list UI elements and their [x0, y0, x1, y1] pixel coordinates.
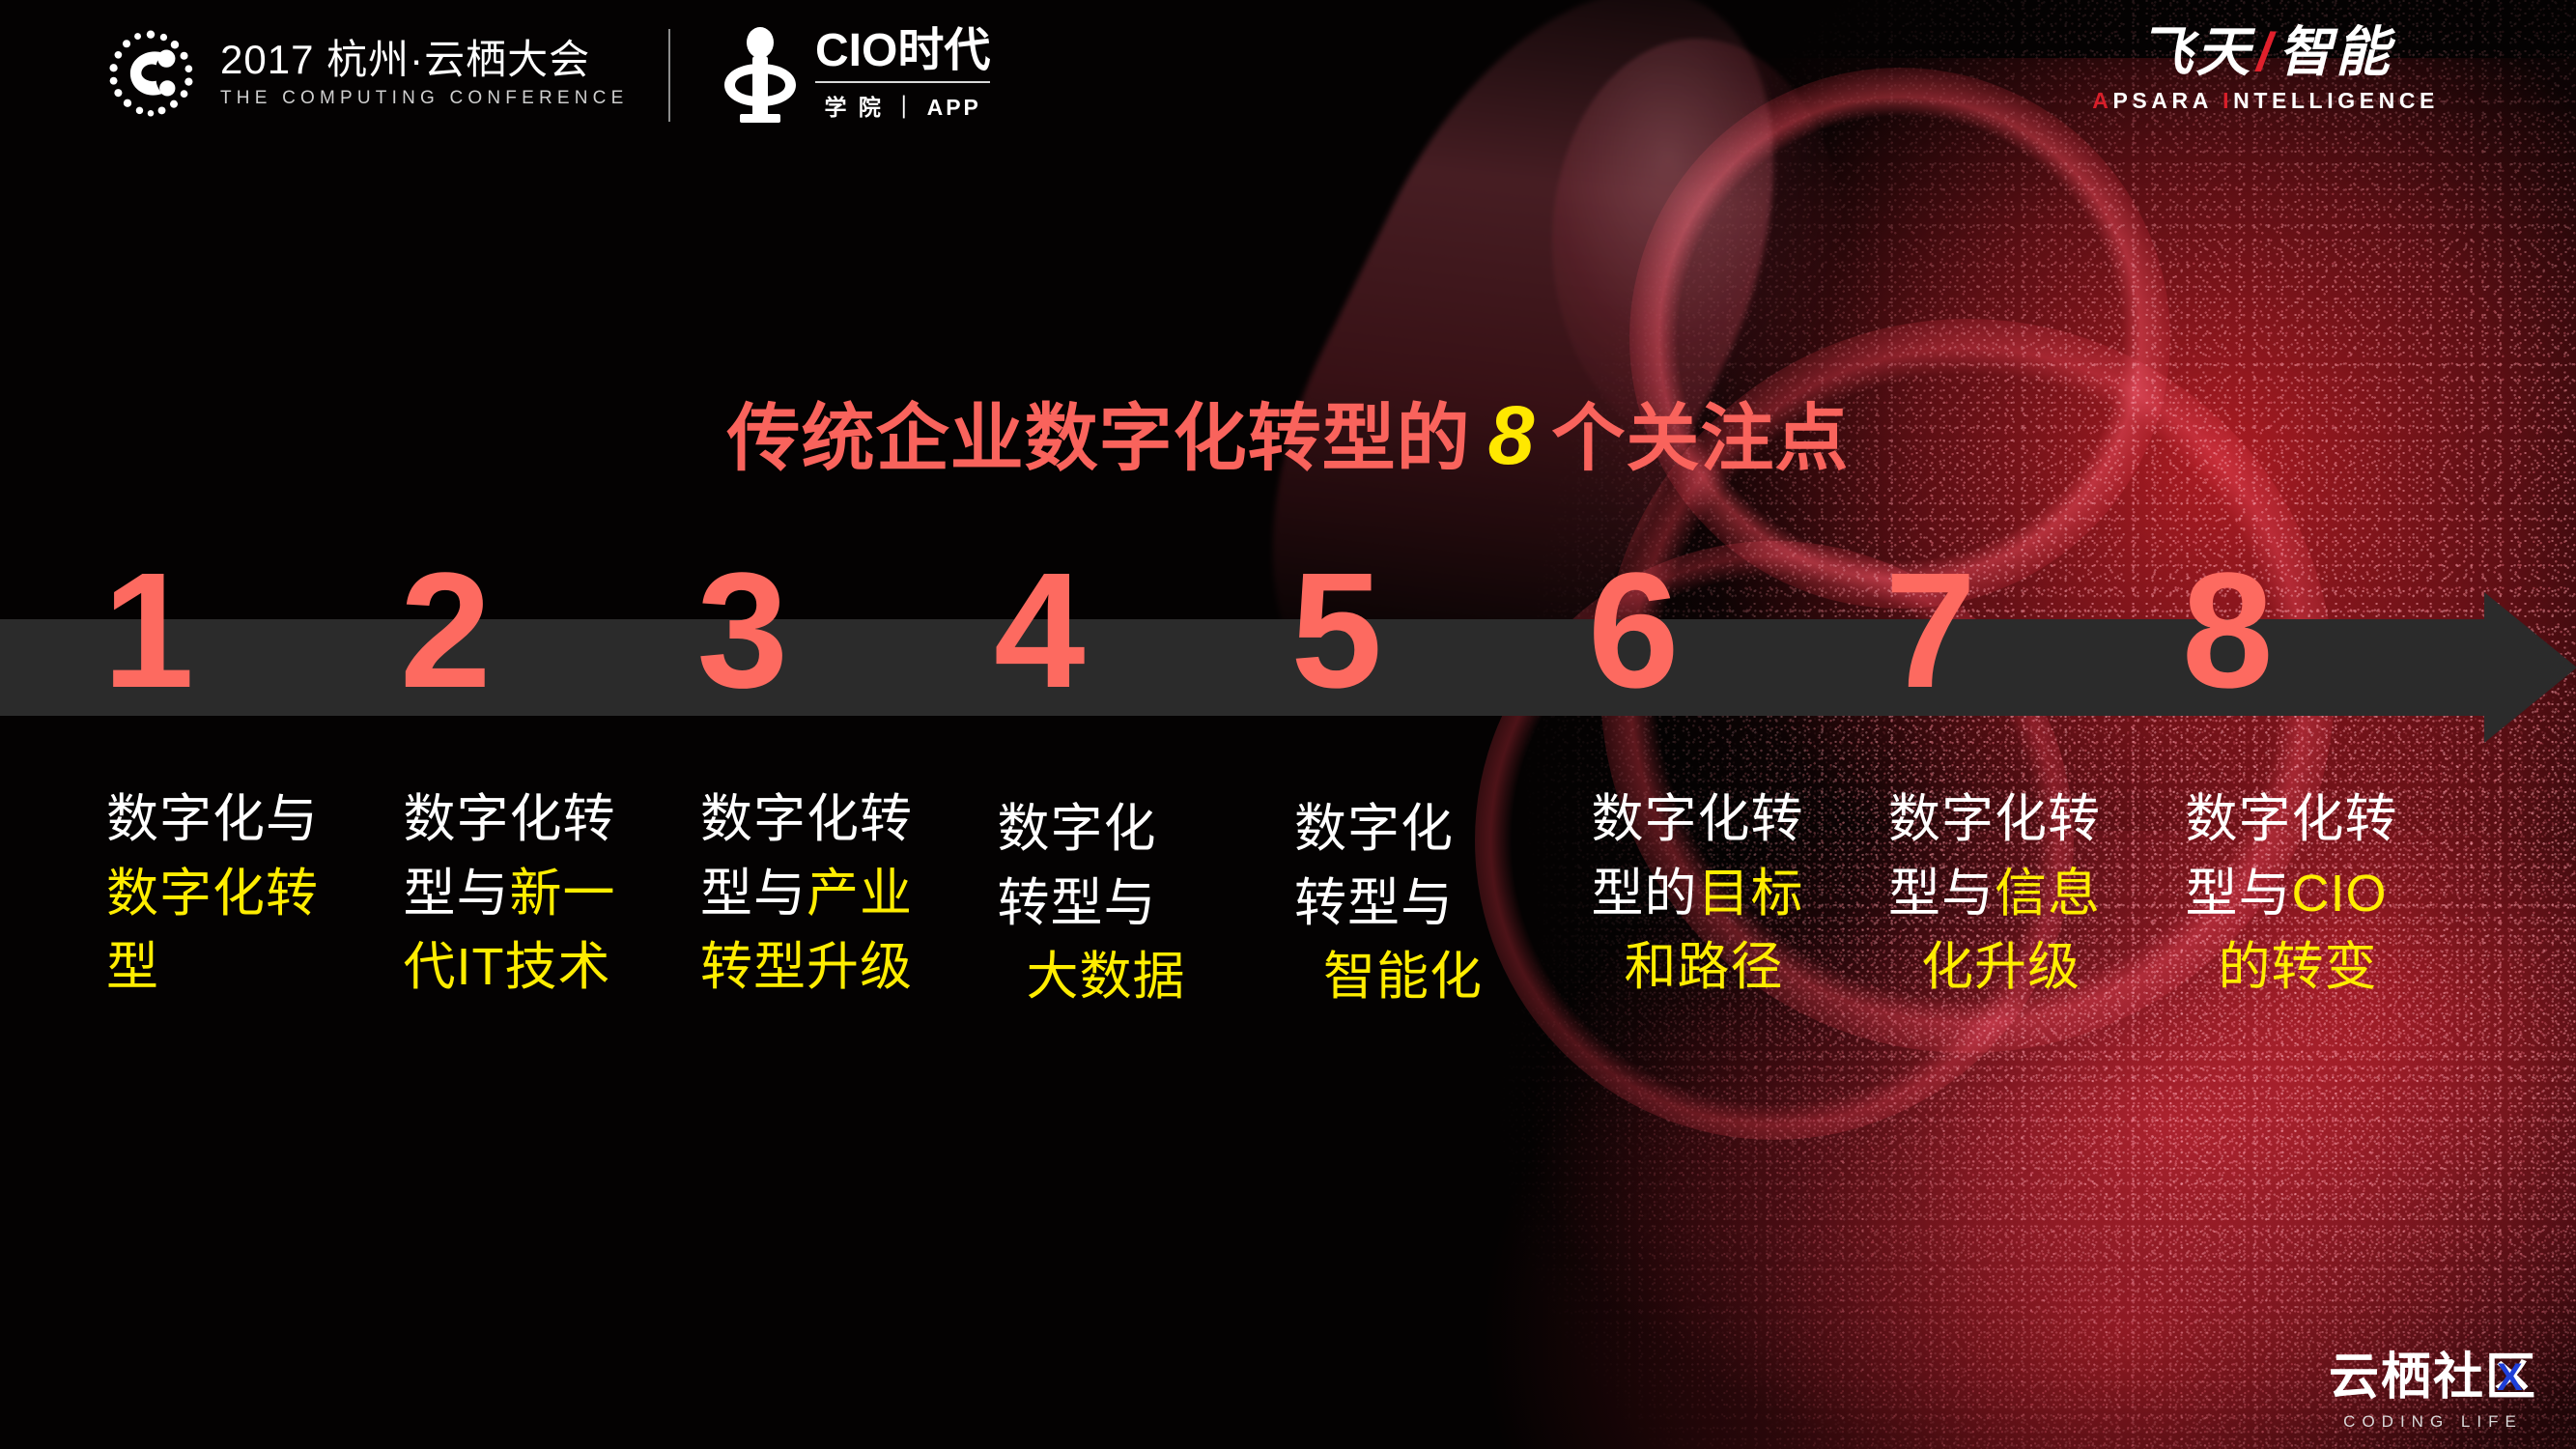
focus-column-3: 数字化转 型与产业 转型升级 [700, 782, 998, 1014]
cio-brand: CIO时代 学 院 ｜ APP [719, 25, 990, 124]
particle-grain-upper [1320, 0, 2576, 1449]
column-5-line-1: 数字化 [1294, 792, 1569, 867]
column-4-line-3: 大数据 [998, 940, 1272, 1014]
column-8-line-1: 数字化转 [2186, 782, 2460, 857]
column-7-line-2-white: 型与 [1888, 865, 1995, 923]
column-7-line-3: 化升级 [1888, 930, 2163, 1005]
yunqi-logo-en: CODING LIFE [2329, 1412, 2537, 1432]
column-6-line-2-white: 型的 [1592, 865, 1698, 923]
column-8-line-3: 的转变 [2186, 930, 2460, 1005]
column-4-line-1: 数字化 [998, 792, 1272, 867]
column-8-line-2-yellow: CIO [2292, 865, 2388, 923]
slide-canvas: 2017 杭州·云栖大会 THE COMPUTING CONFERENCE CI… [0, 0, 2576, 1449]
conference-brand: 2017 杭州·云栖大会 THE COMPUTING CONFERENCE [104, 27, 628, 120]
cio-person-icon [719, 25, 802, 124]
computing-conference-dots-logo [104, 27, 197, 120]
step-number-7: 7 [1782, 541, 2080, 724]
column-2-line-2-yellow: 新一 [510, 865, 616, 923]
column-1-line-1: 数字化与 [106, 782, 381, 857]
conference-title-en: THE COMPUTING CONFERENCE [220, 88, 628, 109]
focus-column-7: 数字化转 型与信息 化升级 [1888, 782, 2186, 1014]
column-7-line-2: 型与信息 [1888, 857, 2163, 931]
column-2-line-3: 代IT技术 [404, 930, 678, 1005]
yunqi-logo-x-mark: X [2497, 1358, 2525, 1397]
focus-column-5: 数字化 转型与 智能化 [1294, 782, 1592, 1014]
column-3-line-1: 数字化转 [700, 782, 975, 857]
yunqi-community-logo: 云栖社区X CODING LIFE [2329, 1352, 2537, 1432]
column-7-line-1: 数字化转 [1888, 782, 2163, 857]
cio-wordmark: CIO时代 学 院 ｜ APP [815, 28, 990, 122]
focus-column-4: 数字化 转型与 大数据 [998, 782, 1295, 1014]
column-8-line-2-white: 型与 [2186, 865, 2292, 923]
title-before: 传统企业数字化转型的 [727, 398, 1471, 480]
apsara-en-i: I [2222, 88, 2233, 113]
column-6-line-2: 型的目标 [1592, 857, 1866, 931]
slide-header: 2017 杭州·云栖大会 THE COMPUTING CONFERENCE CI… [0, 0, 2576, 155]
column-6-line-3: 和路径 [1592, 930, 1866, 1005]
column-1-line-2: 数字化转 [106, 857, 381, 931]
column-2-line-1: 数字化转 [404, 782, 678, 857]
column-4-line-2: 转型与 [998, 867, 1272, 941]
column-3-line-2-white: 型与 [700, 865, 807, 923]
column-5-line-3: 智能化 [1294, 940, 1569, 1014]
apsara-slash: / [2252, 21, 2279, 82]
page-title: 传统企业数字化转型的8个关注点 [0, 379, 2576, 485]
background-nebula [0, 0, 2576, 1449]
focus-point-columns: 数字化与 数字化转 型 数字化转 型与新一 代IT技术 数字化转 型与产业 转型… [106, 782, 2482, 1014]
column-3-line-2: 型与产业 [700, 857, 975, 931]
step-number-4: 4 [892, 541, 1189, 724]
step-number-1: 1 [0, 541, 297, 724]
particle-grain-lower [1446, 638, 2576, 1449]
apsara-brand-en: APSARA INTELLIGENCE [2092, 88, 2439, 114]
step-number-3: 3 [594, 541, 892, 724]
yunqi-logo-cn-part1: 云栖社 [2329, 1352, 2485, 1403]
column-1-line-3: 型 [106, 930, 381, 1005]
conference-text: 2017 杭州·云栖大会 THE COMPUTING CONFERENCE [220, 38, 628, 108]
cio-brand-sub: 学 院 ｜ APP [815, 89, 990, 122]
column-8-line-2: 型与CIO [2186, 857, 2460, 931]
focus-column-1: 数字化与 数字化转 型 [106, 782, 404, 1014]
nebula-main-glow [1407, 58, 2576, 1449]
column-6-line-1: 数字化转 [1592, 782, 1866, 857]
column-6-line-2-yellow: 目标 [1698, 865, 1804, 923]
step-number-2: 2 [297, 541, 595, 724]
header-divider [668, 29, 670, 122]
title-number-8: 8 [1471, 389, 1552, 482]
yunqi-logo-qu-glyph: 区X [2485, 1352, 2537, 1403]
step-number-6: 6 [1486, 541, 1783, 724]
apsara-cn-left: 飞天 [2138, 21, 2252, 82]
focus-column-8: 数字化转 型与CIO 的转变 [2186, 782, 2483, 1014]
column-7-line-2-yellow: 信息 [1995, 865, 2101, 923]
apsara-brand: 飞天/智能 APSARA INTELLIGENCE [2092, 25, 2439, 114]
column-3-line-3: 转型升级 [700, 930, 975, 1005]
step-number-5: 5 [1188, 541, 1486, 724]
column-3-line-2-yellow: 产业 [807, 865, 913, 923]
title-after: 个关注点 [1551, 398, 1849, 480]
column-2-line-2-white: 型与 [404, 865, 510, 923]
step-number-8: 8 [2080, 541, 2377, 724]
apsara-en-a: A [2092, 88, 2112, 113]
focus-column-6: 数字化转 型的目标 和路径 [1592, 782, 1889, 1014]
yunqi-logo-cn: 云栖社区X [2329, 1352, 2537, 1403]
step-number-row: 1 2 3 4 5 6 7 8 [0, 541, 2376, 724]
cio-rule [815, 81, 990, 83]
apsara-brand-cn: 飞天/智能 [2092, 25, 2439, 79]
conference-title-cn: 2017 杭州·云栖大会 [220, 38, 628, 81]
cio-brand-name: CIO时代 [815, 28, 990, 74]
timeline-arrow-head-icon [2484, 592, 2576, 743]
apsara-en-rest1: PSARA [2112, 88, 2222, 113]
apsara-cn-right: 智能 [2279, 21, 2392, 82]
focus-column-2: 数字化转 型与新一 代IT技术 [404, 782, 701, 1014]
column-5-line-2: 转型与 [1294, 867, 1569, 941]
apsara-en-rest2: NTELLIGENCE [2233, 88, 2439, 113]
column-2-line-2: 型与新一 [404, 857, 678, 931]
